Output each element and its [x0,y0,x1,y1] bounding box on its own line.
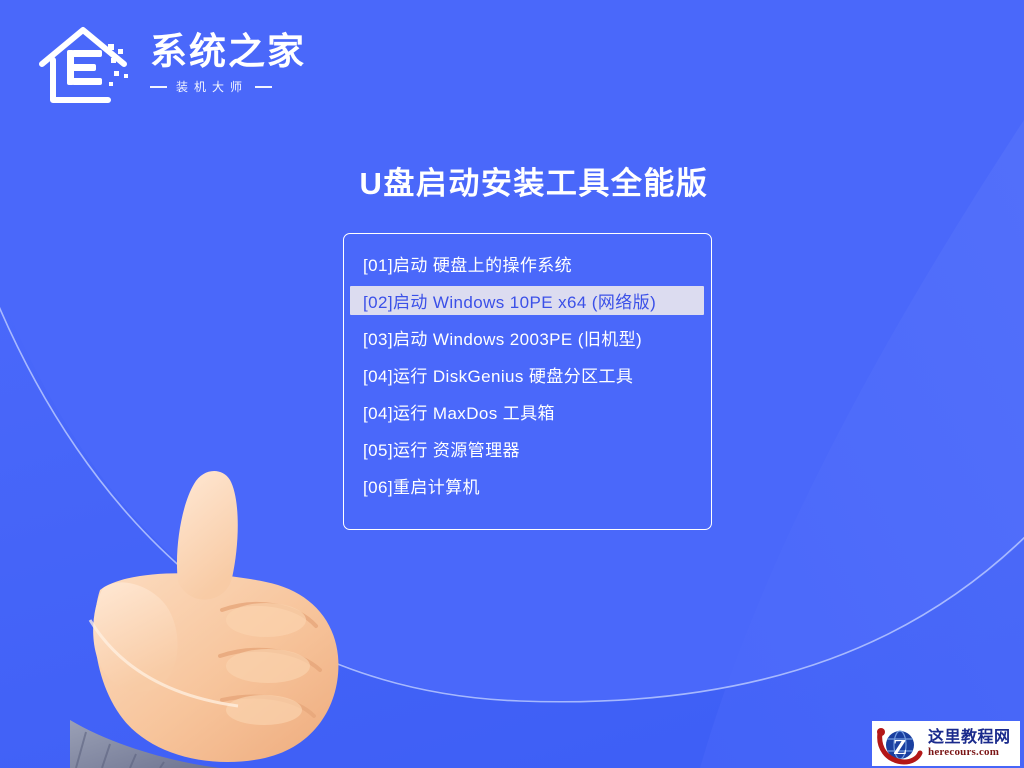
menu-item-03[interactable]: [03]启动 Windows 2003PE (旧机型) [350,323,704,352]
menu-item-04-maxdos[interactable]: [04]运行 MaxDos 工具箱 [350,397,704,426]
house-pixel-logo-icon [36,16,140,108]
menu-item-01[interactable]: [01]启动 硬盘上的操作系统 [350,249,704,278]
pointing-hand-illustration [70,470,430,768]
watermark-text: 这里教程网 herecours.com [928,729,1011,759]
brand-subtitle-row: 装机大师 [150,78,306,95]
svg-text:Z: Z [893,735,907,759]
menu-item-05[interactable]: [05]运行 资源管理器 [350,434,704,463]
brand-name: 系统之家 [150,33,306,72]
page-title: U盘启动安装工具全能版 [344,158,724,203]
dash-right-icon [255,86,272,88]
dash-left-icon [150,86,167,88]
menu-item-04-diskgenius[interactable]: [04]运行 DiskGenius 硬盘分区工具 [350,360,704,389]
brand-logo: 系统之家 装机大师 [36,16,306,108]
site-watermark: Z 这里教程网 herecours.com [872,721,1020,766]
brand-text: 系统之家 装机大师 [150,29,306,96]
globe-z-logo-icon: Z [876,723,924,765]
watermark-site-url: herecours.com [928,746,1011,758]
boot-menu-screen: 系统之家 装机大师 U盘启动安装工具全能版 [01]启动 硬盘上的操作系统 [0… [0,0,1024,768]
menu-item-02[interactable]: [02]启动 Windows 10PE x64 (网络版) [350,286,704,315]
watermark-site-name: 这里教程网 [928,729,1011,747]
brand-subtitle: 装机大师 [174,78,248,95]
